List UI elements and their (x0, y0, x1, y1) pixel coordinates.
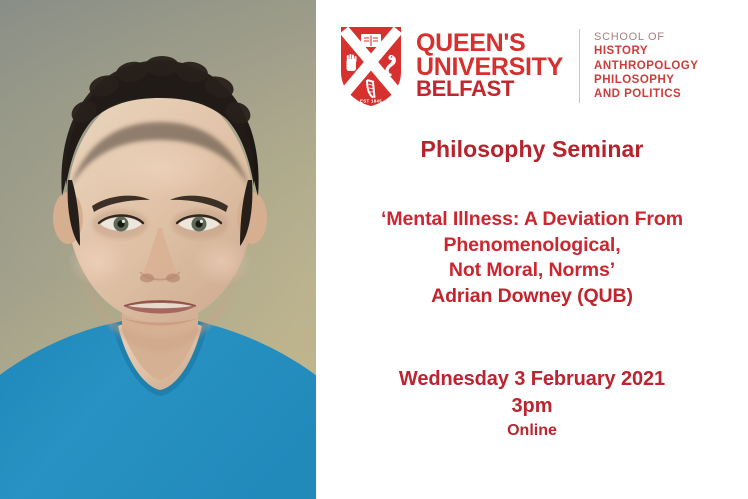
talk-details-block: ‘Mental Illness: A Deviation From Phenom… (326, 207, 738, 310)
wordmark-line-belfast: BELFAST (416, 79, 563, 100)
speaker-portrait-photo (0, 0, 316, 499)
school-name-block: SCHOOL OF HISTORY ANTHROPOLOGY PHILOSOPH… (594, 31, 698, 102)
seminar-series-heading: Philosophy Seminar (316, 136, 748, 163)
queens-university-wordmark: QUEEN'S UNIVERSITY BELFAST (416, 32, 563, 100)
school-prefix: SCHOOL OF (594, 31, 698, 45)
portrait-illustration (0, 0, 316, 499)
queens-university-crest-icon: EST 1845 (338, 24, 404, 108)
talk-title-line-2: Phenomenological, (326, 233, 738, 259)
school-line-and-politics: AND POLITICS (594, 87, 698, 101)
school-line-philosophy: PHILOSOPHY (594, 73, 698, 87)
crest-established-text: EST 1845 (360, 98, 382, 103)
logo-divider (579, 29, 580, 103)
event-date: Wednesday 3 February 2021 (326, 366, 738, 393)
event-schedule-block: Wednesday 3 February 2021 3pm Online (326, 366, 738, 442)
school-line-anthropology: ANTHROPOLOGY (594, 59, 698, 73)
talk-title-line-3: Not Moral, Norms’ (326, 258, 738, 284)
talk-title-line-1: ‘Mental Illness: A Deviation From (326, 207, 738, 233)
wordmark-line-queens: QUEEN'S (416, 32, 563, 56)
queens-university-logo-lockup: EST 1845 QUEEN'S UNIVERSITY BELFAST SCHO… (338, 18, 736, 114)
school-line-history: HISTORY (594, 44, 698, 58)
poster-content-panel: EST 1845 QUEEN'S UNIVERSITY BELFAST SCHO… (316, 0, 748, 499)
talk-speaker: Adrian Downey (QUB) (326, 284, 738, 310)
event-time: 3pm (326, 393, 738, 420)
seminar-poster: EST 1845 QUEEN'S UNIVERSITY BELFAST SCHO… (0, 0, 748, 499)
event-location: Online (326, 420, 738, 442)
